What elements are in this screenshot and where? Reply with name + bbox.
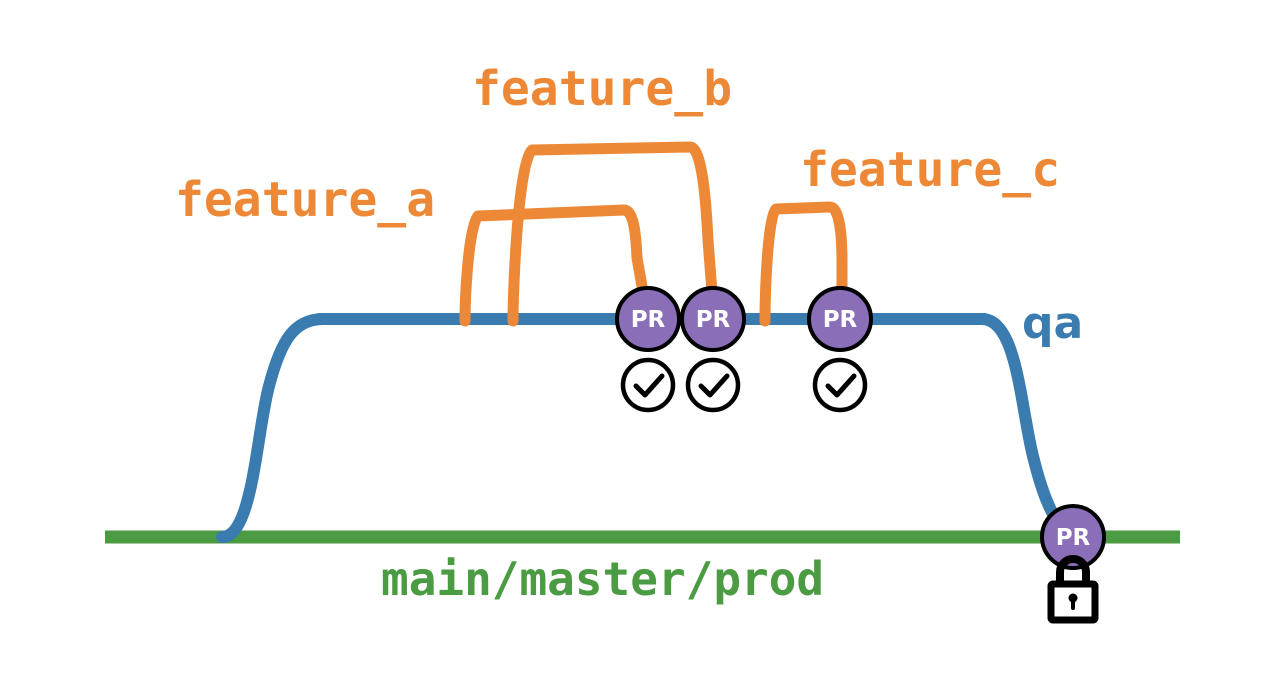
branch-label-feature-b: feature_b [472,61,732,117]
check-circle-ring [623,360,673,410]
pr-node-label: PR [631,307,666,333]
branch-label-feature-a: feature_a [175,172,435,228]
branch-label-feature-c: feature_c [800,142,1060,198]
check-circle-icon [688,360,738,410]
qa-branch-rise[interactable] [222,319,322,537]
branch-line-feature-a[interactable] [465,210,643,321]
check-circle-icon [623,360,673,410]
qa-merge-to-main[interactable] [982,319,1068,533]
check-circle-icon [815,360,865,410]
pr-node-label: PR [696,307,731,333]
pr-node-feature-b[interactable]: PR [682,288,744,350]
branch-label-qa: qa [1022,298,1083,349]
pr-node-label: PR [823,307,858,333]
feature-a-path[interactable] [465,210,643,321]
check-circle-ring [688,360,738,410]
pr-node-label: PR [1056,525,1091,551]
feature-b-path[interactable] [513,147,712,321]
branch-line-feature-b[interactable] [513,147,712,321]
pr-node-feature-c[interactable]: PR [809,288,871,350]
branch-label-main: main/master/prod [381,552,824,606]
git-flow-canvas: PR PR PR PR [0,0,1288,678]
git-branch-diagram: PR PR PR PR [0,0,1288,678]
check-circle-ring [815,360,865,410]
pr-node-feature-a[interactable]: PR [617,288,679,350]
